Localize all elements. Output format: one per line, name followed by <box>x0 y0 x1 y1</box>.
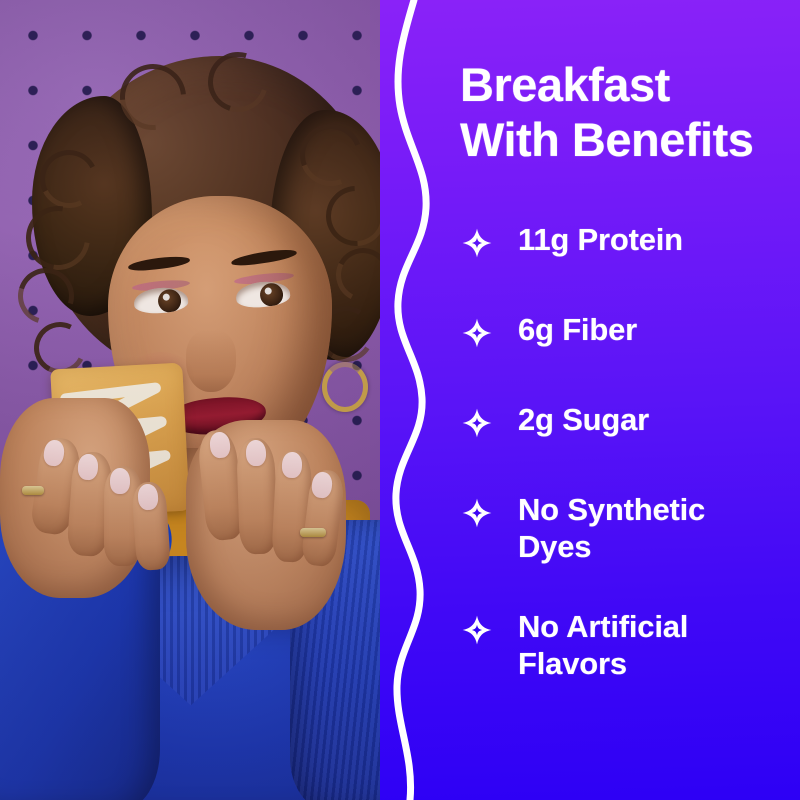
benefit-label: No Artificial Flavors <box>518 609 688 682</box>
list-item: No Artificial Flavors <box>462 609 792 682</box>
benefit-label: No Synthetic Dyes <box>518 492 705 565</box>
product-lifestyle-photo <box>0 0 432 800</box>
list-item: 11g Protein <box>462 222 792 268</box>
marketing-poster: Breakfast With Benefits 11g Protein 6g F… <box>0 0 800 800</box>
sparkle-star-icon <box>462 498 492 528</box>
photo-vignette <box>0 0 432 800</box>
benefit-label: 6g Fiber <box>518 312 637 349</box>
benefits-list: 11g Protein 6g Fiber 2g Sugar <box>462 222 792 682</box>
list-item: 2g Sugar <box>462 402 792 448</box>
list-item: 6g Fiber <box>462 312 792 358</box>
benefits-panel: Breakfast With Benefits 11g Protein 6g F… <box>380 0 800 800</box>
benefit-label: 11g Protein <box>518 222 683 259</box>
page-title: Breakfast With Benefits <box>460 58 753 168</box>
list-item: No Synthetic Dyes <box>462 492 792 565</box>
sparkle-star-icon <box>462 408 492 438</box>
sparkle-star-icon <box>462 615 492 645</box>
benefit-label: 2g Sugar <box>518 402 649 439</box>
sparkle-star-icon <box>462 228 492 258</box>
sparkle-star-icon <box>462 318 492 348</box>
